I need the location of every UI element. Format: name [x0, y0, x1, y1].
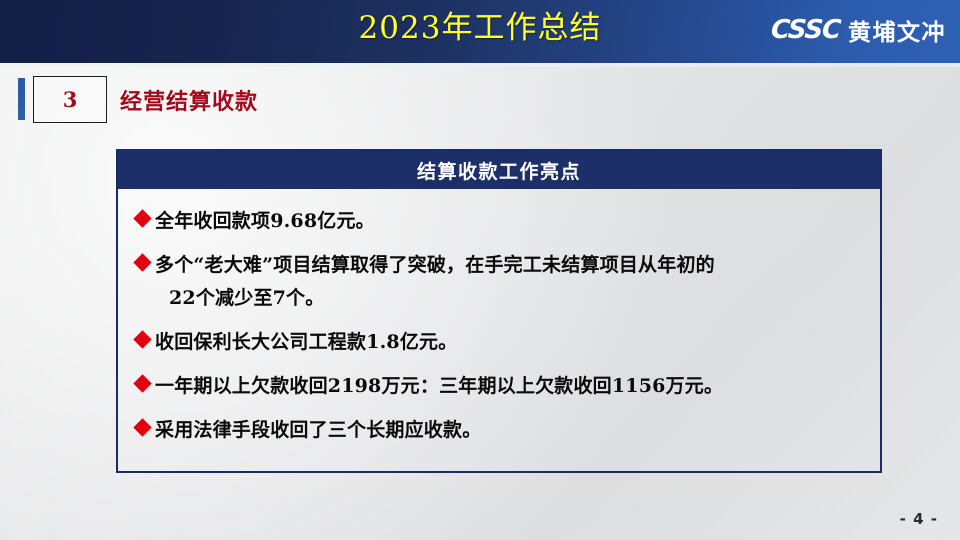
section-title: 经营结算收款	[120, 84, 258, 116]
list-item: 一年期以上欠款收回2198万元：三年期以上欠款收回1156万元。	[132, 370, 864, 403]
company-logo: CSSC 黄埔文冲	[771, 13, 946, 47]
list-item-line: 全年收回款项9.68亿元。	[155, 205, 864, 238]
list-item-line: 22个减少至7个。	[155, 282, 864, 315]
highlights-card: 结算收款工作亮点 全年收回款项9.68亿元。 多个“老大难”项目结算取得了突破，…	[116, 149, 882, 473]
list-item-text: 多个“老大难”项目结算取得了突破，在手完工未结算项目从年初的 22个减少至7个。	[155, 249, 864, 315]
list-item: 多个“老大难”项目结算取得了突破，在手完工未结算项目从年初的 22个减少至7个。	[132, 249, 864, 315]
list-item-line: 采用法律手段收回了三个长期应收款。	[155, 414, 864, 447]
section-number-box: 3	[33, 76, 107, 123]
slide-header-banner: 2023年工作总结 CSSC 黄埔文冲	[0, 0, 960, 63]
page-number: - 4 -	[900, 510, 938, 528]
diamond-bullet-icon	[133, 253, 151, 271]
list-item-line: 一年期以上欠款收回2198万元：三年期以上欠款收回1156万元。	[155, 370, 864, 403]
header-divider-strip	[0, 63, 960, 67]
list-item-line: 多个“老大难”项目结算取得了突破，在手完工未结算项目从年初的	[155, 249, 864, 282]
highlights-card-body: 全年收回款项9.68亿元。 多个“老大难”项目结算取得了突破，在手完工未结算项目…	[118, 189, 880, 457]
highlights-card-header: 结算收款工作亮点	[118, 151, 880, 189]
list-item-text: 采用法律手段收回了三个长期应收款。	[155, 414, 864, 447]
list-item: 采用法律手段收回了三个长期应收款。	[132, 414, 864, 447]
diamond-bullet-icon	[133, 330, 151, 348]
section-accent-bar	[18, 78, 25, 120]
slide-canvas: 2023年工作总结 CSSC 黄埔文冲 3 经营结算收款 结算收款工作亮点 全年…	[0, 0, 960, 540]
list-item-text: 全年收回款项9.68亿元。	[155, 205, 864, 238]
logo-wordmark: CSSC	[770, 15, 841, 45]
list-item: 全年收回款项9.68亿元。	[132, 205, 864, 238]
section-number: 3	[63, 87, 78, 112]
diamond-bullet-icon	[133, 418, 151, 436]
list-item-text: 一年期以上欠款收回2198万元：三年期以上欠款收回1156万元。	[155, 370, 864, 403]
list-item: 收回保利长大公司工程款1.8亿元。	[132, 326, 864, 359]
list-item-line: 收回保利长大公司工程款1.8亿元。	[155, 326, 864, 359]
logo-chinese-name: 黄埔文冲	[848, 13, 946, 47]
diamond-bullet-icon	[133, 209, 151, 227]
diamond-bullet-icon	[133, 374, 151, 392]
section-heading: 3 经营结算收款	[0, 76, 960, 122]
highlights-card-title: 结算收款工作亮点	[417, 157, 581, 184]
list-item-text: 收回保利长大公司工程款1.8亿元。	[155, 326, 864, 359]
